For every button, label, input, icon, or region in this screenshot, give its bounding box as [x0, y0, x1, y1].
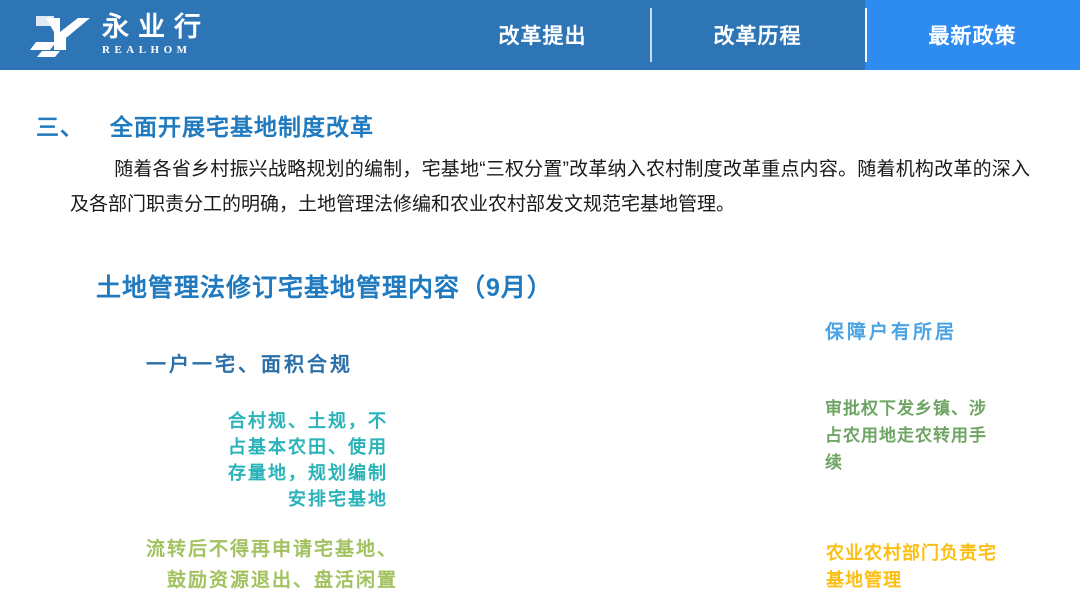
brand-logo[interactable]: 永业行 REALHOM — [0, 0, 400, 70]
app-header: 永业行 REALHOM 改革提出 改革历程 最新政策 — [0, 0, 1080, 70]
section-paragraph-text: 随着各省乡村振兴战略规划的编制，宅基地“三权分置”改革纳入农村制度改革重点内容。… — [70, 159, 1030, 215]
label-shenpiquan: 审批权下发乡镇、涉 占农用地走农转用手 续 — [825, 395, 1035, 476]
tab-gaige-licheng[interactable]: 改革历程 — [650, 0, 865, 70]
section-title: 三、全面开展宅基地制度改革 — [36, 108, 374, 142]
brand-name-en: REALHOM — [102, 44, 210, 56]
label-hecungui: 合村规、土规，不 占基本农田、使用 存量地，规划编制 安排宅基地 — [166, 408, 388, 512]
section-paragraph: 随着各省乡村振兴战略规划的编制，宅基地“三权分置”改革纳入农村制度改革重点内容。… — [70, 152, 1030, 222]
tab-gaige-tichu[interactable]: 改革提出 — [435, 0, 650, 70]
label-baozhang: 保障户有所居 — [825, 317, 957, 344]
label-nongyebumen: 农业农村部门负责宅 基地管理 — [826, 540, 1036, 594]
top-nav: 改革提出 改革历程 最新政策 — [435, 0, 1080, 70]
label-liuzhuanhou: 流转后不得再申请宅基地、 鼓励资源退出、盘活闲置 — [88, 534, 398, 596]
header-underline — [0, 70, 1080, 73]
diagram-title: 土地管理法修订宅基地管理内容（9月） — [96, 268, 553, 304]
realhom-wave-logo-icon — [30, 12, 92, 58]
brand-name-cn: 永业行 — [102, 14, 210, 42]
tab-zuixin-zhengce[interactable]: 最新政策 — [865, 0, 1080, 70]
section-number: 三、 — [36, 114, 84, 140]
label-yihuyizhai: 一户一宅、面积合规 — [146, 348, 353, 377]
section-heading-text: 全面开展宅基地制度改革 — [110, 114, 374, 140]
